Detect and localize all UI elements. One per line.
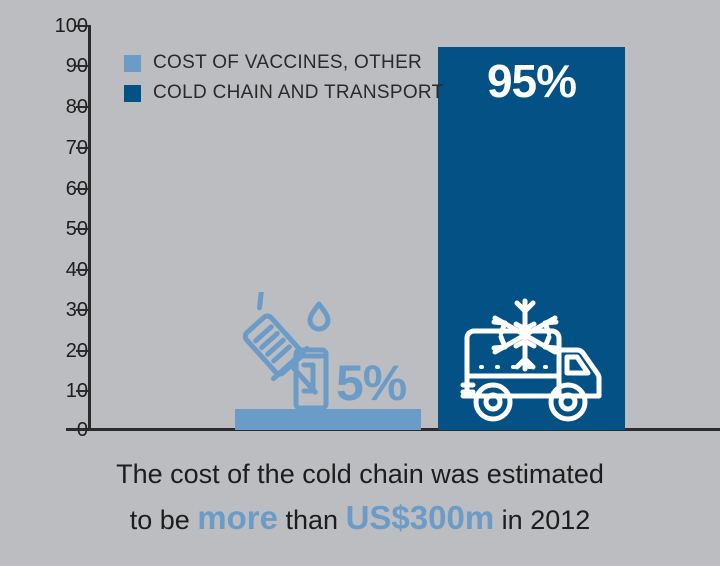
legend-item-cold-chain[interactable]: COLD CHAIN AND TRANSPORT bbox=[124, 78, 444, 108]
y-tick-mark bbox=[76, 228, 88, 230]
y-tick-mark bbox=[76, 188, 88, 190]
dark-blue-swatch-icon bbox=[124, 85, 141, 102]
y-tick-mark bbox=[76, 269, 88, 271]
caption-text-e: in 2012 bbox=[494, 505, 590, 535]
y-tick-mark bbox=[76, 350, 88, 352]
legend-item-cost-of-vaccines[interactable]: COST OF VACCINES, OTHER bbox=[124, 48, 444, 78]
y-tick-mark bbox=[76, 25, 88, 27]
y-tick-mark bbox=[76, 106, 88, 108]
y-tick-mark bbox=[76, 147, 88, 149]
value-label-vaccines: 5% bbox=[336, 358, 406, 408]
y-axis-line bbox=[88, 25, 91, 431]
caption-line-1: The cost of the cold chain was estimated bbox=[0, 452, 720, 496]
y-tick-mark bbox=[76, 390, 88, 392]
caption-text-c: than bbox=[278, 505, 346, 535]
caption-line-2: to be more than US$300m in 2012 bbox=[0, 496, 720, 542]
chart-caption: The cost of the cold chain was estimated… bbox=[0, 452, 720, 542]
chart-container: 100 90 80 70 60 50 40 30 bbox=[0, 0, 720, 566]
chart-legend: COST OF VACCINES, OTHER COLD CHAIN AND T… bbox=[124, 48, 444, 108]
caption-highlight-more: more bbox=[197, 499, 278, 536]
light-blue-swatch-icon bbox=[124, 55, 141, 72]
y-tick-mark bbox=[76, 65, 88, 67]
refrigerated-truck-icon bbox=[455, 296, 607, 428]
y-tick-mark bbox=[76, 429, 88, 431]
legend-label: COLD CHAIN AND TRANSPORT bbox=[153, 82, 444, 104]
caption-text-a: to be bbox=[130, 505, 198, 535]
legend-label: COST OF VACCINES, OTHER bbox=[153, 52, 422, 74]
y-tick-mark bbox=[76, 309, 88, 311]
caption-highlight-amount: US$300m bbox=[346, 499, 495, 536]
value-label-cold-chain: 95% bbox=[438, 58, 625, 104]
